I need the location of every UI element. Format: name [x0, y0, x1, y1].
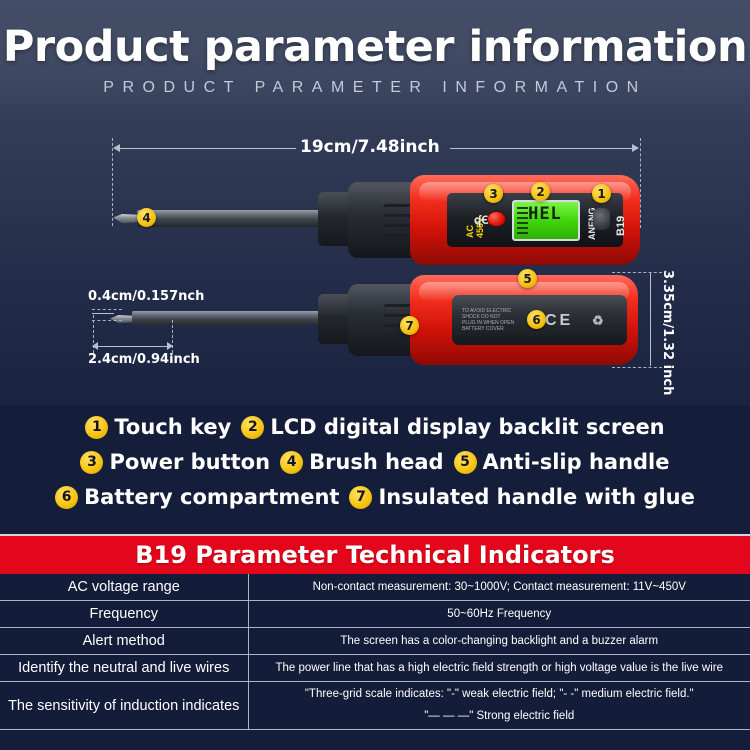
feature-legend: 1 Touch key 2 LCD digital display backli… — [0, 405, 750, 525]
dim-line-tip-width — [92, 313, 114, 314]
power-button[interactable] — [487, 211, 506, 227]
callout-5: 5 — [518, 269, 537, 288]
table-row: Identify the neutral and live wires The … — [0, 655, 750, 682]
spec-value-sensitivity-line1: "Three-grid scale indicates: "-" weak el… — [305, 688, 694, 700]
spec-key-sensitivity-line1: The sensitivity of induction indicates — [8, 698, 239, 714]
dim-label-tip-width: 0.4cm/0.157nch — [88, 289, 204, 304]
table-row: AC voltage range Non-contact measurement… — [0, 574, 750, 601]
legend-label-1: Touch key — [114, 415, 231, 439]
tool2-ce-mark: CE — [545, 312, 573, 330]
dim-arrow-tiplen-right — [167, 342, 173, 350]
dim-label-handle-height: 3.35cm/1.32 inch — [660, 270, 675, 395]
touch-key[interactable] — [593, 208, 610, 230]
dim-line-length-b — [450, 148, 638, 149]
lcd-display: HEL — [512, 200, 580, 241]
spec-value-frequency: 50~60Hz Frequency — [248, 601, 750, 628]
hero-header: Product parameter information PRODUCT PA… — [0, 0, 750, 120]
legend-item-power-button: 3 Power button — [80, 450, 270, 474]
tool2-tip — [110, 315, 134, 323]
spec-key-ac-voltage-range: AC voltage range — [0, 574, 248, 601]
spec-value-sensitivity-line2: "— — —" Strong electric field — [257, 709, 743, 724]
dim-arrow-tiplen-left — [92, 342, 98, 350]
spec-banner: B19 Parameter Technical Indicators — [0, 536, 750, 574]
callout-3: 3 — [484, 184, 503, 203]
dim-arrow-right — [632, 144, 639, 152]
table-row: Frequency 50~60Hz Frequency — [0, 601, 750, 628]
legend-label-6: Battery compartment — [84, 485, 339, 509]
spec-key-identify-wires: Identify the neutral and live wires — [0, 655, 248, 682]
page-subtitle: PRODUCT PARAMETER INFORMATION — [0, 79, 750, 97]
dim-line-tip-length — [94, 346, 172, 347]
legend-row-1: 1 Touch key 2 LCD digital display backli… — [0, 415, 750, 439]
legend-badge-6: 6 — [55, 486, 78, 509]
legend-item-lcd-screen: 2 LCD digital display backlit screen — [241, 415, 664, 439]
dim-arrow-left — [113, 144, 120, 152]
legend-item-insulated-handle: 7 Insulated handle with glue — [349, 485, 694, 509]
legend-label-2: LCD digital display backlit screen — [270, 415, 664, 439]
tool2-weee-icon: ♻ — [592, 313, 604, 329]
spec-key-sensitivity: The sensitivity of induction indicates — [0, 682, 248, 730]
legend-item-touch-key: 1 Touch key — [85, 415, 231, 439]
dim-extension-right — [640, 138, 641, 228]
legend-badge-3: 3 — [80, 451, 103, 474]
tool1-tip — [113, 214, 139, 223]
legend-item-brush-head: 4 Brush head — [280, 450, 443, 474]
battery-warning-text: TO AVOID ELECTRICSHOCK DO NOTPLUG IN WHE… — [462, 308, 514, 332]
spec-value-ac-voltage-range: Non-contact measurement: 30~1000V; Conta… — [248, 574, 750, 601]
spec-table: AC voltage range Non-contact measurement… — [0, 574, 750, 730]
tool1-model-label: B19 — [615, 216, 627, 236]
callout-4: 4 — [137, 208, 156, 227]
spec-banner-title: B19 Parameter Technical Indicators — [135, 541, 614, 569]
page-title: Product parameter information — [0, 22, 750, 72]
dim-line-length-a — [116, 148, 296, 149]
legend-label-7: Insulated handle with glue — [378, 485, 694, 509]
legend-badge-7: 7 — [349, 486, 372, 509]
table-row: The sensitivity of induction indicates "… — [0, 682, 750, 730]
legend-badge-2: 2 — [241, 416, 264, 439]
legend-label-5: Anti-slip handle — [483, 450, 670, 474]
spec-value-identify-wires: The power line that has a high electric … — [248, 655, 750, 682]
legend-label-4: Brush head — [309, 450, 443, 474]
dim-label-tip-length: 2.4cm/0.94inch — [88, 352, 200, 367]
legend-badge-1: 1 — [85, 416, 108, 439]
spec-value-sensitivity: "Three-grid scale indicates: "-" weak el… — [248, 682, 750, 730]
dim-label-length: 19cm/7.48inch — [300, 137, 440, 157]
callout-6: 6 — [527, 310, 546, 329]
callout-7: 7 — [400, 316, 419, 335]
legend-badge-5: 5 — [454, 451, 477, 474]
dim-ext-height-bot — [612, 367, 662, 368]
legend-row-2: 3 Power button 4 Brush head 5 Anti-slip … — [0, 450, 750, 474]
lcd-value: HEL — [528, 204, 562, 224]
spec-key-frequency: Frequency — [0, 601, 248, 628]
legend-label-3: Power button — [109, 450, 270, 474]
dim-ext-tipwidth-bot — [92, 320, 122, 321]
dim-line-height — [650, 273, 651, 366]
tool1-shaft — [137, 210, 323, 227]
tool2-shaft — [132, 311, 322, 326]
legend-row-3: 6 Battery compartment 7 Insulated handle… — [0, 485, 750, 509]
dim-ext-height-top — [612, 272, 662, 273]
callout-2: 2 — [531, 182, 550, 201]
spec-value-alert-method: The screen has a color-changing backligh… — [248, 628, 750, 655]
callout-1: 1 — [592, 184, 611, 203]
legend-item-anti-slip-handle: 5 Anti-slip handle — [454, 450, 670, 474]
legend-item-battery-compartment: 6 Battery compartment — [55, 485, 339, 509]
legend-badge-4: 4 — [280, 451, 303, 474]
dim-ext-tipwidth-top — [92, 309, 122, 310]
spec-key-alert-method: Alert method — [0, 628, 248, 655]
product-illustration-panel: 19cm/7.48inch AC450V ʠЄ — [0, 120, 750, 405]
table-row: Alert method The screen has a color-chan… — [0, 628, 750, 655]
